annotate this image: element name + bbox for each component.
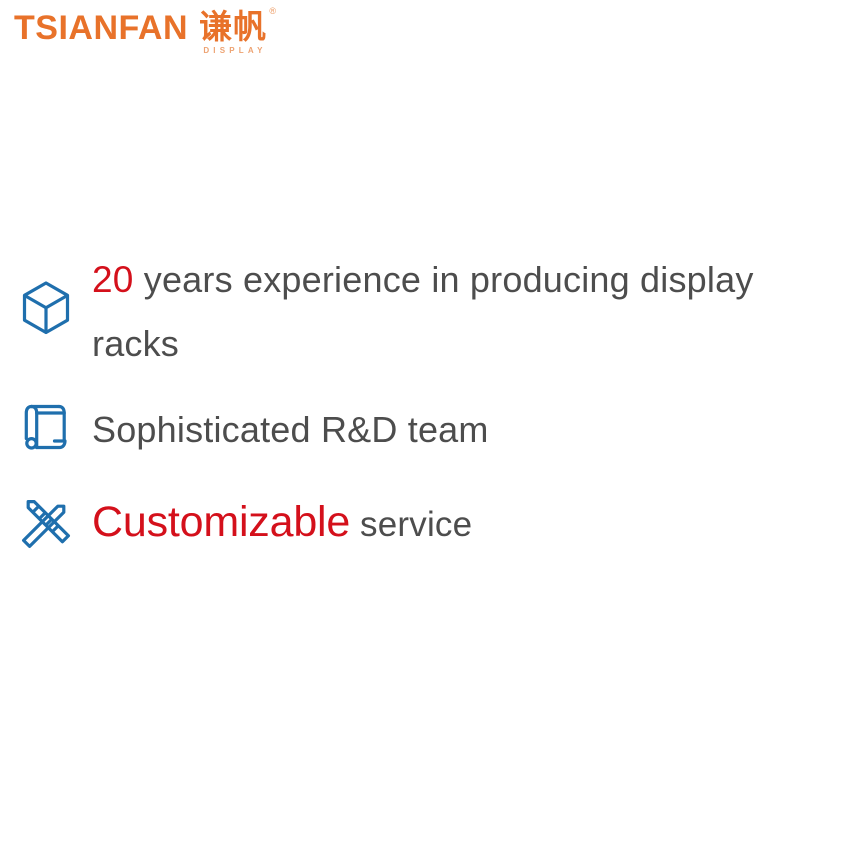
feature-body: service — [350, 505, 472, 544]
feature-text: 20 years experience in producing display… — [92, 248, 782, 376]
brand-subtitle: DISPLAY — [199, 47, 266, 55]
crossed-ruler-pen-icon — [0, 490, 92, 550]
brand-chinese-block: 谦帆 ® DISPLAY — [199, 8, 267, 55]
registered-trademark-icon: ® — [269, 7, 276, 16]
feature-highlight: Customizable — [92, 498, 350, 546]
brand-wordmark: TSIANFAN — [14, 8, 188, 48]
feature-body: years experience in producing display ra… — [92, 259, 754, 364]
blueprint-scroll-icon — [0, 398, 92, 453]
brand-chinese-name: 谦帆 — [199, 8, 267, 45]
list-item: Customizable service — [0, 490, 850, 557]
feature-text: Customizable service — [92, 490, 782, 557]
feature-list: 20 years experience in producing display… — [0, 248, 850, 573]
cube-box-icon — [0, 248, 92, 335]
feature-body: Sophisticated R&D team — [92, 409, 489, 450]
feature-highlight: 20 — [92, 259, 134, 300]
brand-logo: TSIANFAN 谦帆 ® DISPLAY — [14, 8, 267, 56]
feature-text: Sophisticated R&D team — [92, 398, 782, 462]
list-item: 20 years experience in producing display… — [0, 248, 850, 376]
list-item: Sophisticated R&D team — [0, 398, 850, 462]
